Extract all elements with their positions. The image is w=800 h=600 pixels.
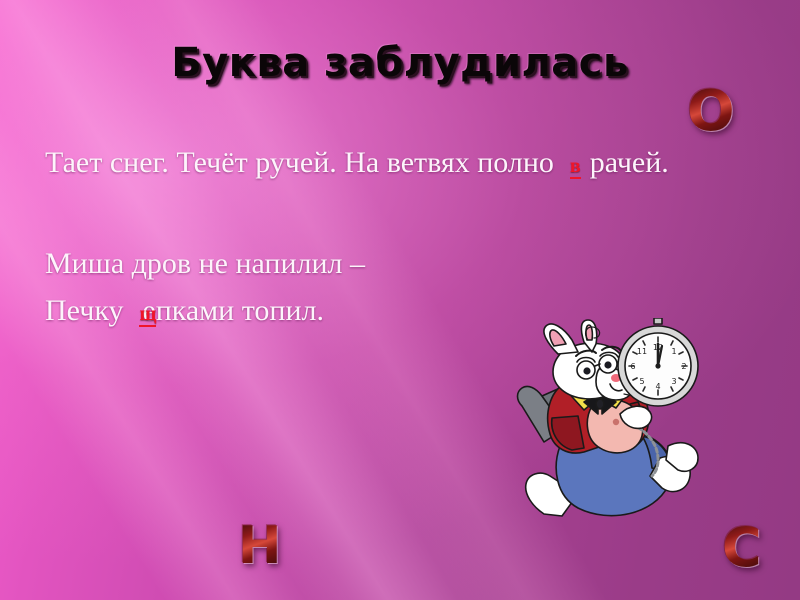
riddle-2-line-b: Печкущепками топил. xyxy=(45,294,324,331)
svg-text:12: 12 xyxy=(653,343,663,352)
riddle-2-prefix: Печку xyxy=(45,294,123,327)
svg-text:11: 11 xyxy=(637,347,647,356)
deco-letter-s: С xyxy=(722,521,762,575)
deco-letter-o: О xyxy=(687,84,735,140)
svg-text:4: 4 xyxy=(655,382,660,391)
riddle-2-line-a: Миша дров не напилил – xyxy=(45,247,365,281)
white-rabbit-clipart: 12 1 2 3 4 5 6 11 xyxy=(492,318,707,523)
svg-text:1: 1 xyxy=(671,347,676,356)
svg-text:2: 2 xyxy=(681,362,686,371)
riddle-1-suffix: рачей. xyxy=(590,146,669,179)
svg-text:3: 3 xyxy=(671,377,676,386)
riddle-2-replacement-letter: щ xyxy=(139,303,156,327)
svg-text:5: 5 xyxy=(639,377,644,386)
riddle-1-prefix: Тает снег. Течёт ручей. На ветвях полно xyxy=(45,146,554,179)
slide-canvas: Буква заблудилась Тает снег. Течёт ручей… xyxy=(0,0,800,600)
svg-text:6: 6 xyxy=(630,362,635,371)
page-title: Буква заблудилась xyxy=(0,40,800,86)
deco-letter-n: Н xyxy=(238,520,282,572)
riddle-1-replacement-letter: в xyxy=(570,155,581,179)
riddle-1-text: Тает снег. Течёт ручей. На ветвях полнов… xyxy=(45,146,669,183)
riddle-2-suffix: епками топил. xyxy=(142,294,324,327)
